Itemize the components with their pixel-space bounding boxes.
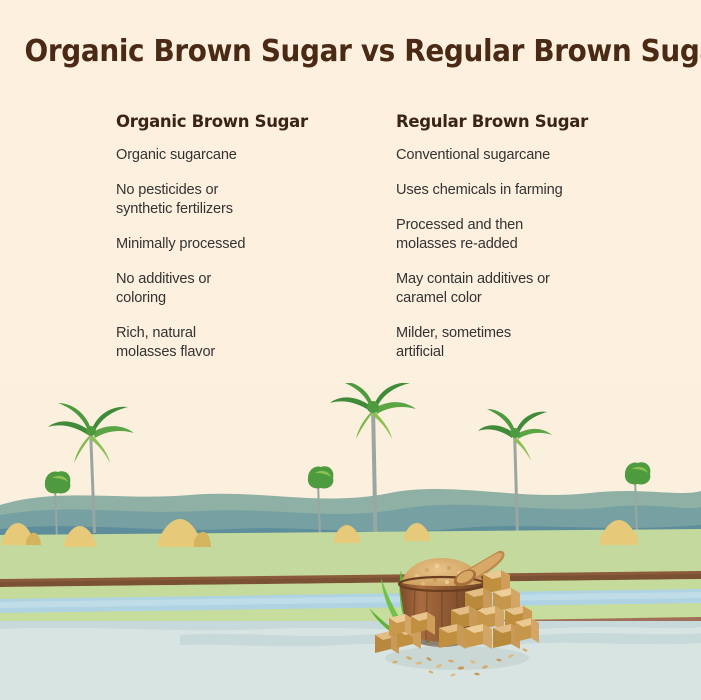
column-heading-organic: Organic Brown Sugar — [116, 112, 386, 131]
foreground-ground-panel — [0, 621, 701, 700]
infographic-canvas: Organic Brown Sugar vs Regular Brown Sug… — [0, 0, 701, 700]
list-item: Conventional sugarcane — [396, 146, 666, 165]
column-regular-brown-sugar: Regular Brown Sugar Conventional sugarca… — [396, 112, 666, 378]
column-heading-regular: Regular Brown Sugar — [396, 112, 666, 131]
list-item: Uses chemicals in farming — [396, 181, 666, 200]
sugar-cube — [375, 631, 399, 654]
feature-list-regular: Conventional sugarcane Uses chemicals in… — [396, 146, 666, 362]
list-item: No additives or coloring — [116, 270, 386, 308]
brown-sugar-centerpiece — [365, 530, 555, 690]
feature-list-organic: Organic sugarcane No pesticides or synth… — [116, 146, 386, 362]
comparison-columns: Organic Brown Sugar Organic sugarcane No… — [0, 112, 701, 382]
sugar-cube — [465, 624, 492, 649]
column-organic-brown-sugar: Organic Brown Sugar Organic sugarcane No… — [116, 112, 386, 378]
list-item: Organic sugarcane — [116, 146, 386, 165]
list-item: Milder, sometimes artificial — [396, 324, 666, 362]
sugar-cube — [515, 618, 539, 643]
list-item: May contain additives or caramel color — [396, 270, 666, 308]
page-title: Organic Brown Sugar vs Regular Brown Sug… — [25, 34, 677, 69]
list-item: Rich, natural molasses flavor — [116, 324, 386, 362]
list-item: Minimally processed — [116, 235, 386, 254]
list-item: Processed and then molasses re-added — [396, 216, 666, 254]
list-item: No pesticides or synthetic fertilizers — [116, 181, 386, 219]
